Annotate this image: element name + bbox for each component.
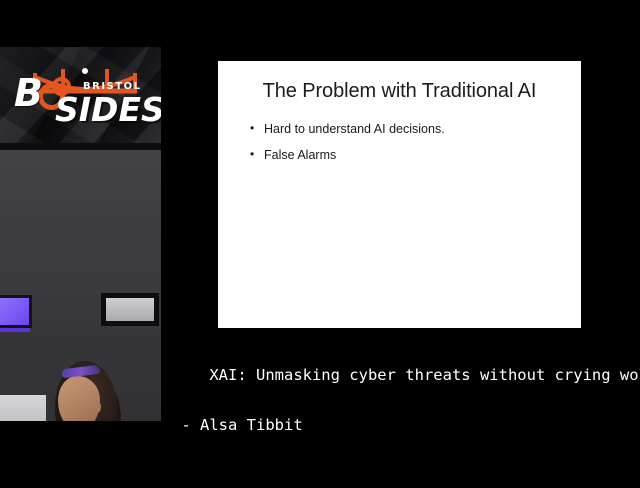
bsides-bristol-logo: B SIDES BRISTOL [0, 47, 161, 143]
video-caption: XAI: Unmasking cyber threats without cry… [172, 338, 632, 488]
speaker-camera-feed [0, 143, 161, 421]
slide-bullet-list: Hard to understand AI decisions. False A… [250, 123, 550, 174]
slide-title: The Problem with Traditional AI [218, 80, 581, 103]
slide-bullet-item: Hard to understand AI decisions. [250, 123, 550, 136]
ceiling-strip [0, 143, 161, 150]
lectern-monitor [0, 395, 46, 421]
caption-line-2: - Alsa Tibbit [172, 413, 632, 438]
logo-letter-b: B [14, 74, 42, 112]
presentation-slide: The Problem with Traditional AI Hard to … [218, 61, 581, 328]
logo-wordmark: B SIDES BRISTOL [0, 47, 161, 143]
speaker-face [58, 376, 100, 421]
caption-line-1: XAI: Unmasking cyber threats without cry… [209, 366, 640, 384]
speaker-ear [93, 401, 101, 413]
background-gray-display [101, 293, 159, 326]
logo-word-bristol: BRISTOL [83, 82, 141, 92]
video-player-stage: B SIDES BRISTOL The Problem [0, 0, 640, 480]
logo-word-sides: SIDES [55, 93, 161, 126]
background-purple-display-base [0, 328, 30, 332]
background-purple-display [0, 295, 32, 328]
slide-bullet-item: False Alarms [250, 149, 550, 162]
